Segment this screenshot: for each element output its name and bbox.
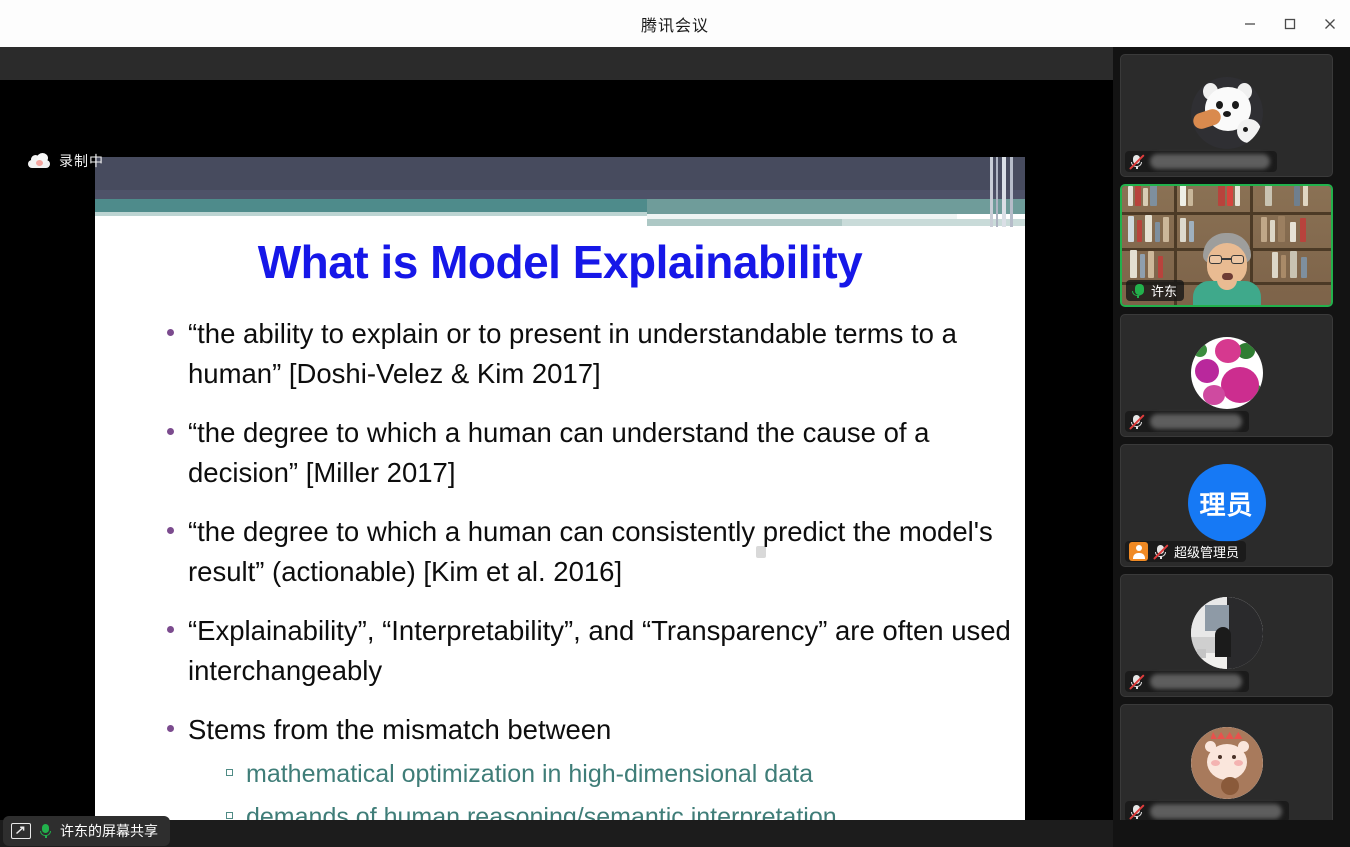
window-title: 腾讯会议 bbox=[641, 12, 709, 36]
render-artifact bbox=[647, 199, 1025, 214]
participant-name: 许东 bbox=[1151, 281, 1177, 300]
bullet-dot-icon bbox=[167, 626, 174, 633]
minimize-button[interactable] bbox=[1230, 0, 1270, 47]
share-top-strip bbox=[0, 47, 1113, 80]
participant-nameplate bbox=[1125, 671, 1249, 692]
slide-header-band-dark2 bbox=[95, 190, 1025, 199]
participant-tile[interactable] bbox=[1120, 574, 1333, 697]
flowers-avatar bbox=[1191, 337, 1263, 409]
participant-nameplate bbox=[1125, 411, 1249, 432]
bullet-dot-icon bbox=[167, 329, 174, 336]
participant-tile-active-speaker[interactable]: 许东 bbox=[1120, 184, 1333, 307]
participant-strip[interactable]: 许东 理员 bbox=[1113, 47, 1350, 847]
screen-share-icon bbox=[11, 823, 31, 839]
bullet-dot-icon bbox=[167, 725, 174, 732]
close-button[interactable] bbox=[1310, 0, 1350, 47]
window-controls bbox=[1230, 0, 1350, 47]
participant-name: 超级管理员 bbox=[1174, 542, 1239, 561]
recording-label: 录制中 bbox=[59, 151, 104, 171]
slide-bullet-text: “the degree to which a human can consist… bbox=[188, 512, 1025, 592]
bear-cartoon-avatar bbox=[1191, 727, 1263, 799]
host-badge-icon bbox=[1129, 542, 1148, 561]
mic-off-icon bbox=[1129, 674, 1144, 690]
avatar-initials: 理员 bbox=[1199, 485, 1253, 522]
participant-tile[interactable] bbox=[1120, 54, 1333, 177]
mic-on-icon bbox=[38, 823, 53, 839]
sub-bullet-square-icon bbox=[226, 812, 233, 819]
participant-nameplate bbox=[1125, 801, 1289, 822]
cloud-record-icon bbox=[28, 154, 50, 168]
render-artifact bbox=[647, 219, 842, 226]
slide-sub-bullet-list: mathematical optimization in high-dimens… bbox=[188, 754, 837, 820]
mic-off-icon bbox=[1153, 544, 1168, 560]
slide-bullet: “the degree to which a human can underst… bbox=[155, 413, 1025, 493]
speaker-figure bbox=[1189, 233, 1265, 305]
slide-sub-bullet: demands of human reasoning/semantic inte… bbox=[188, 797, 837, 820]
render-artifact bbox=[996, 157, 998, 227]
slide-bullet-text: “Explainability”, “Interpretability”, an… bbox=[188, 611, 1025, 691]
slide-bullet-text: Stems from the mismatch between bbox=[188, 714, 611, 745]
slide-bullet: Stems from the mismatch between mathemat… bbox=[155, 710, 1025, 820]
slide-header-band-teal-light bbox=[95, 212, 647, 216]
participant-nameplate: 许东 bbox=[1126, 280, 1184, 301]
participant-nameplate bbox=[1125, 151, 1277, 172]
slide-bullet-list: “the ability to explain or to present in… bbox=[155, 314, 1025, 820]
slide-bullet: “the ability to explain or to present in… bbox=[155, 314, 1025, 394]
window-titlebar: 腾讯会议 bbox=[0, 0, 1350, 47]
slide-bullet-text: “the degree to which a human can underst… bbox=[188, 413, 1025, 493]
slide-sub-bullet-text: demands of human reasoning/semantic inte… bbox=[246, 797, 837, 820]
screen-share-label: 许东的屏幕共享 bbox=[60, 821, 158, 841]
participant-strip-footer bbox=[1113, 820, 1350, 847]
participant-tile-host[interactable]: 理员 超级管理员 bbox=[1120, 444, 1333, 567]
recording-indicator: 录制中 bbox=[28, 151, 104, 171]
meeting-body: 录制中 What is Model Explainability bbox=[0, 47, 1350, 847]
mic-off-icon bbox=[1129, 414, 1144, 430]
participant-nameplate: 超级管理员 bbox=[1125, 541, 1246, 562]
participant-name bbox=[1150, 674, 1242, 689]
render-artifact bbox=[1010, 157, 1013, 227]
slide-bullet: “the degree to which a human can consist… bbox=[155, 512, 1025, 592]
slide-title: What is Model Explainability bbox=[95, 235, 1025, 289]
render-artifact bbox=[1002, 157, 1006, 227]
bottom-status-bar: 许东的屏幕共享 bbox=[0, 820, 1113, 847]
screen-share-status[interactable]: 许东的屏幕共享 bbox=[3, 816, 170, 846]
presentation-slide: What is Model Explainability “the abilit… bbox=[95, 157, 1025, 820]
bullet-dot-icon bbox=[167, 527, 174, 534]
mic-off-icon bbox=[1129, 804, 1144, 820]
participant-name bbox=[1150, 154, 1270, 169]
slide-bullet: “Explainability”, “Interpretability”, an… bbox=[155, 611, 1025, 691]
bullet-dot-icon bbox=[167, 428, 174, 435]
render-artifact bbox=[990, 157, 993, 227]
maximize-button[interactable] bbox=[1270, 0, 1310, 47]
sub-bullet-square-icon bbox=[226, 769, 233, 776]
slide-header-band-dark bbox=[95, 157, 1025, 190]
mic-on-icon bbox=[1130, 283, 1145, 299]
tencent-meeting-window: 腾讯会议 录制中 bbox=[0, 0, 1350, 847]
mic-off-icon bbox=[1129, 154, 1144, 170]
participant-name bbox=[1150, 414, 1242, 429]
shared-screen-area[interactable]: 录制中 What is Model Explainability bbox=[0, 47, 1113, 820]
initials-avatar: 理员 bbox=[1188, 464, 1266, 542]
participant-tile[interactable] bbox=[1120, 314, 1333, 437]
mouse-cursor-artifact bbox=[756, 546, 766, 558]
participant-tile[interactable] bbox=[1120, 704, 1333, 827]
slide-bullet-text: “the ability to explain or to present in… bbox=[188, 314, 1025, 394]
dog-plush-avatar bbox=[1191, 77, 1263, 149]
slide-sub-bullet: mathematical optimization in high-dimens… bbox=[188, 754, 837, 794]
participant-name bbox=[1150, 804, 1282, 819]
slide-sub-bullet-text: mathematical optimization in high-dimens… bbox=[246, 754, 813, 794]
room-photo-avatar bbox=[1191, 597, 1263, 669]
